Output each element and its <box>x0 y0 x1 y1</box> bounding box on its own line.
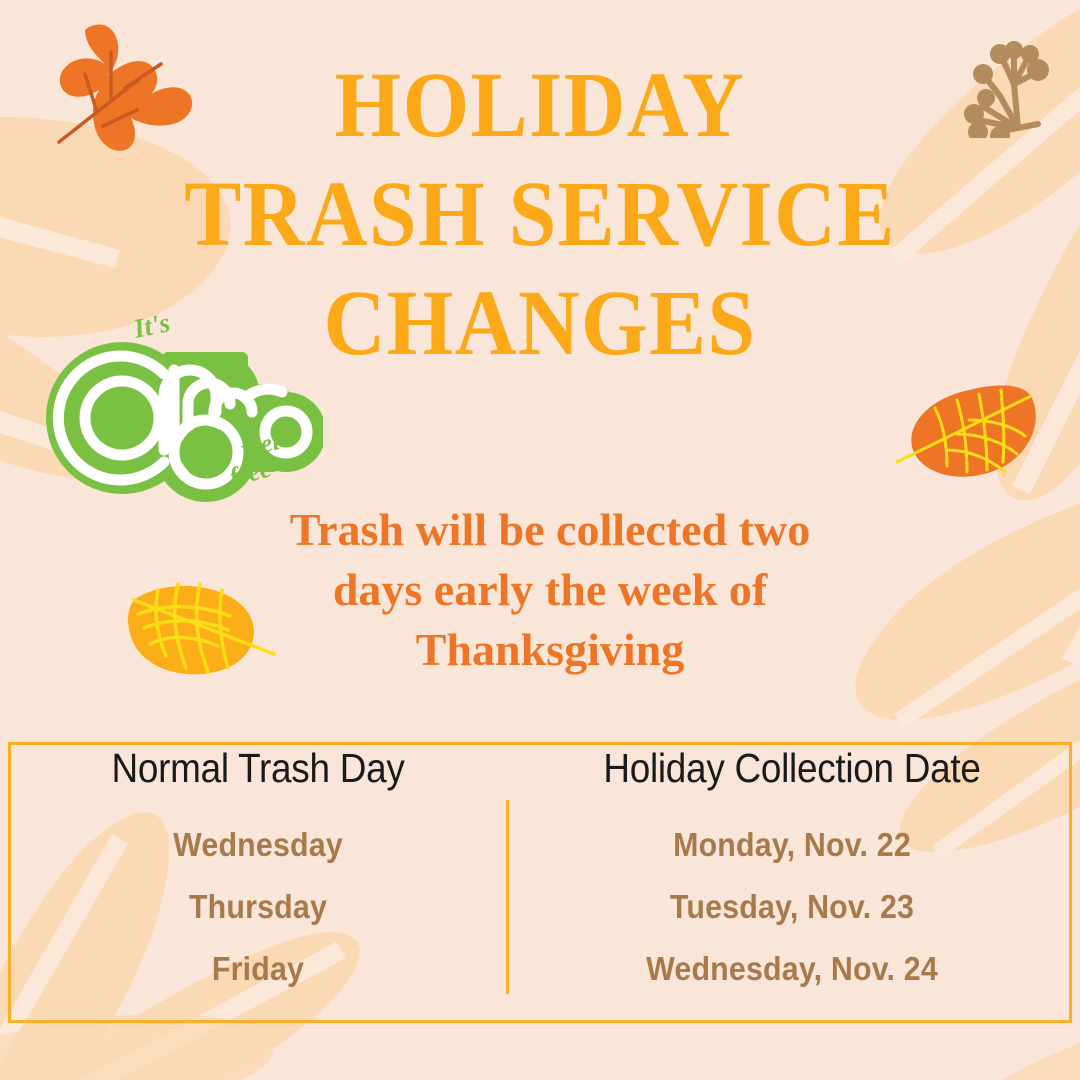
table-row: Wednesday, Nov. 24 <box>534 937 1049 999</box>
carrboro-logo: It's feel free <box>38 300 323 505</box>
table-row: Monday, Nov. 22 <box>534 813 1049 875</box>
table-column-normal: Normal Trash Day Wednesday Thursday Frid… <box>8 748 508 999</box>
table-row: Tuesday, Nov. 23 <box>534 875 1049 937</box>
subheading: Trash will be collected two days early t… <box>240 500 860 679</box>
carrboro-logo-icon: It's feel free <box>38 300 323 505</box>
poster-canvas: HOLIDAY TRASH SERVICE CHANGES <box>0 0 1080 1080</box>
logo-its-text: It's <box>130 307 172 344</box>
table-row: Friday <box>28 937 488 999</box>
table-header-normal: Normal Trash Day <box>33 748 483 789</box>
leaf-orange-right <box>895 380 1045 485</box>
table-header-holiday: Holiday Collection Date <box>540 748 1044 789</box>
title-line-1: HOLIDAY <box>43 52 1037 161</box>
table-row: Thursday <box>28 875 488 937</box>
title-line-2: TRASH SERVICE <box>43 161 1037 270</box>
table-row: Wednesday <box>28 813 488 875</box>
table-column-holiday: Holiday Collection Date Monday, Nov. 22 … <box>512 748 1072 999</box>
